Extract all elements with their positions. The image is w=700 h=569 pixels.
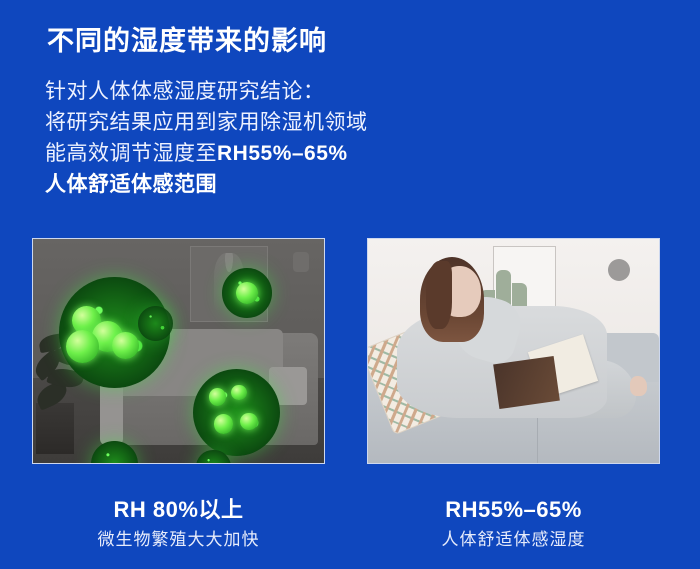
book-cover — [493, 356, 560, 409]
page-title: 不同的湿度带来的影响 — [47, 19, 327, 58]
microbe-cell — [240, 413, 257, 430]
body-line-3: 能高效调节湿度至RH55%–65% — [45, 138, 368, 169]
body-line-3-normal: 能高效调节湿度至 — [45, 142, 217, 165]
microbe-cell — [231, 385, 247, 401]
microbe-icon — [193, 369, 280, 456]
bright-room-scene — [368, 239, 659, 463]
body-line-3-highlight: RH55%–65% — [217, 142, 348, 165]
wall-speaker-icon — [608, 259, 630, 281]
dark-room-scene — [33, 239, 324, 463]
panel-captions: RH 80%以上 微生物繁殖大大加快 RH55%–65% 人体舒适体感湿度 — [0, 496, 700, 569]
caption-title: RH 80%以上 — [32, 496, 325, 524]
panel-high-humidity-image — [32, 238, 325, 464]
caption-subtitle: 人体舒适体感湿度 — [367, 529, 660, 551]
body-line-1: 针对人体体感湿度研究结论： — [45, 76, 368, 107]
caption-title: RH55%–65% — [367, 496, 660, 524]
microbe-cell — [214, 414, 233, 433]
humidity-impact-poster: 不同的湿度带来的影响 针对人体体感湿度研究结论： 将研究结果应用到家用除湿机领域… — [0, 0, 700, 569]
woman-hair-front — [426, 261, 452, 328]
body-line-2: 将研究结果应用到家用除湿机领域 — [45, 107, 368, 138]
dark-plant-pot — [36, 403, 74, 455]
microbe-cell — [209, 388, 226, 405]
caption-high-humidity: RH 80%以上 微生物繁殖大大加快 — [32, 496, 325, 551]
microbe-cell — [112, 332, 139, 359]
body-copy: 针对人体体感湿度研究结论： 将研究结果应用到家用除湿机领域 能高效调节湿度至RH… — [45, 76, 368, 200]
caption-subtitle: 微生物繁殖大大加快 — [32, 529, 325, 551]
microbe-icon — [138, 306, 173, 341]
caption-comfort-humidity: RH55%–65% 人体舒适体感湿度 — [367, 496, 660, 551]
microbe-cell — [66, 330, 99, 363]
panel-comfort-humidity-image — [367, 238, 660, 464]
microbe-cell — [236, 282, 258, 304]
microbe-icon — [222, 268, 271, 317]
woman-foot — [630, 376, 647, 396]
comparison-panels — [0, 238, 700, 466]
wall-switch-icon — [293, 252, 309, 272]
body-line-4: 人体舒适体感范围 — [45, 169, 368, 200]
